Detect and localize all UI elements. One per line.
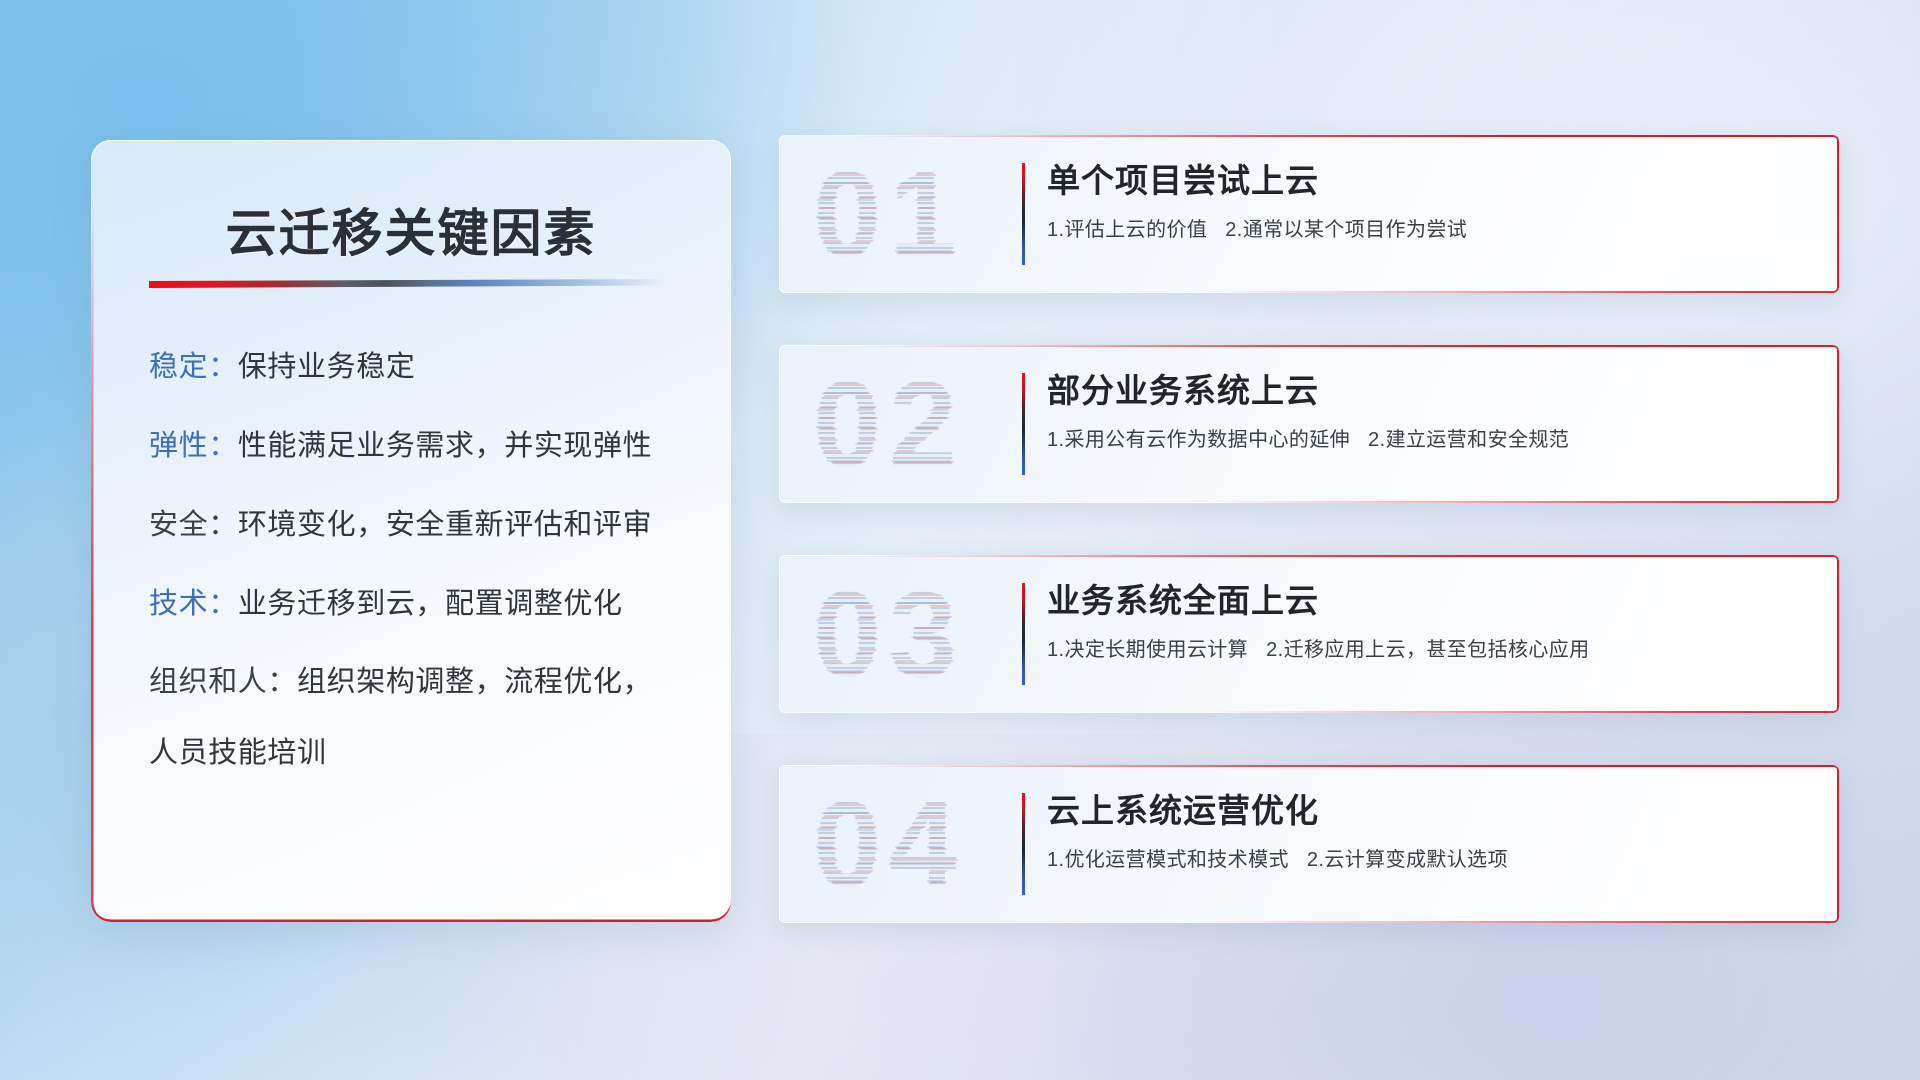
list-item-label: 组织和人： (149, 666, 297, 698)
card-point-2: 2.迁移应用上云，甚至包括核心应用 (1266, 639, 1589, 661)
card-number-glitch-blue: 04 (811, 774, 963, 914)
key-factors-panel: 云迁移关键因素 稳定：保持业务稳定 弹性：性能满足业务需求，并实现弹性 安全：环… (91, 140, 731, 922)
stage-card[interactable]: 03 03 03 业务系统全面上云 1.决定长期使用云计算2.迁移应用上云，甚至… (779, 555, 1839, 713)
card-title: 单个项目尝试上云 (1047, 161, 1813, 201)
list-item-value: 业务迁移到云，配置调整优化 (238, 588, 623, 620)
list-item: 稳定：保持业务稳定 (149, 348, 697, 387)
card-number-glitch-blue: 01 (811, 144, 963, 284)
card-subtitle: 1.采用公有云作为数据中心的延伸2.建立运营和安全规范 (1047, 427, 1813, 453)
list-item-label: 弹性： (149, 430, 238, 462)
card-accent-bar (1022, 373, 1025, 475)
card-point-2: 2.建立运营和安全规范 (1368, 429, 1569, 451)
migration-stage-card-list: 01 01 01 单个项目尝试上云 1.评估上云的价值2.通常以某个项目作为尝试… (779, 135, 1839, 923)
card-number-glitch-blue: 02 (811, 354, 963, 494)
list-item-continuation: 人员技能培训 (149, 734, 697, 773)
key-factors-list: 稳定：保持业务稳定 弹性：性能满足业务需求，并实现弹性 安全：环境变化，安全重新… (149, 348, 697, 773)
card-number-watermark: 03 03 03 (779, 555, 1069, 713)
card-content: 部分业务系统上云 1.采用公有云作为数据中心的延伸2.建立运营和安全规范 (1047, 371, 1813, 453)
card-title: 部分业务系统上云 (1047, 371, 1813, 411)
list-item-value: 人员技能培训 (149, 737, 327, 769)
list-item-label: 技术： (149, 588, 238, 620)
card-accent-bar (1022, 793, 1025, 895)
card-content: 云上系统运营优化 1.优化运营模式和技术模式2.云计算变成默认选项 (1047, 791, 1813, 873)
stage-card[interactable]: 04 04 04 云上系统运营优化 1.优化运营模式和技术模式2.云计算变成默认… (779, 765, 1839, 923)
list-item: 安全：环境变化，安全重新评估和评审 (149, 506, 697, 545)
card-title: 业务系统全面上云 (1047, 581, 1813, 621)
card-title: 云上系统运营优化 (1047, 791, 1813, 831)
stage-card[interactable]: 02 02 02 部分业务系统上云 1.采用公有云作为数据中心的延伸2.建立运营… (779, 345, 1839, 503)
list-item-label: 稳定： (149, 351, 238, 383)
card-content: 单个项目尝试上云 1.评估上云的价值2.通常以某个项目作为尝试 (1047, 161, 1813, 243)
card-content: 业务系统全面上云 1.决定长期使用云计算2.迁移应用上云，甚至包括核心应用 (1047, 581, 1813, 663)
list-item: 组织和人：组织架构调整，流程优化， (149, 663, 697, 702)
list-item-value: 保持业务稳定 (238, 351, 416, 383)
list-item-label: 安全： (149, 509, 238, 541)
list-item: 弹性：性能满足业务需求，并实现弹性 (149, 427, 697, 466)
list-item-value: 环境变化，安全重新评估和评审 (238, 509, 652, 541)
card-accent-bar (1022, 163, 1025, 265)
card-point-2: 2.通常以某个项目作为尝试 (1225, 219, 1467, 241)
card-subtitle: 1.评估上云的价值2.通常以某个项目作为尝试 (1047, 217, 1813, 243)
card-point-2: 2.云计算变成默认选项 (1307, 849, 1508, 871)
card-subtitle: 1.优化运营模式和技术模式2.云计算变成默认选项 (1047, 847, 1813, 873)
card-number-watermark: 04 04 04 (779, 765, 1069, 923)
list-item: 技术：业务迁移到云，配置调整优化 (149, 585, 697, 624)
title-underline-gradient (149, 279, 665, 288)
card-subtitle: 1.决定长期使用云计算2.迁移应用上云，甚至包括核心应用 (1047, 637, 1813, 663)
card-point-1: 1.采用公有云作为数据中心的延伸 (1047, 429, 1350, 451)
card-number-watermark: 01 01 01 (779, 135, 1069, 293)
card-point-1: 1.评估上云的价值 (1047, 219, 1207, 241)
page-title: 云迁移关键因素 (91, 192, 731, 266)
list-item-value: 性能满足业务需求，并实现弹性 (238, 430, 652, 462)
stage-card[interactable]: 01 01 01 单个项目尝试上云 1.评估上云的价值2.通常以某个项目作为尝试 (779, 135, 1839, 293)
list-item-value: 组织架构调整，流程优化， (297, 666, 652, 698)
card-number-glitch-blue: 03 (811, 564, 963, 704)
card-number-watermark: 02 02 02 (779, 345, 1069, 503)
card-accent-bar (1022, 583, 1025, 685)
card-point-1: 1.决定长期使用云计算 (1047, 639, 1248, 661)
card-point-1: 1.优化运营模式和技术模式 (1047, 849, 1289, 871)
